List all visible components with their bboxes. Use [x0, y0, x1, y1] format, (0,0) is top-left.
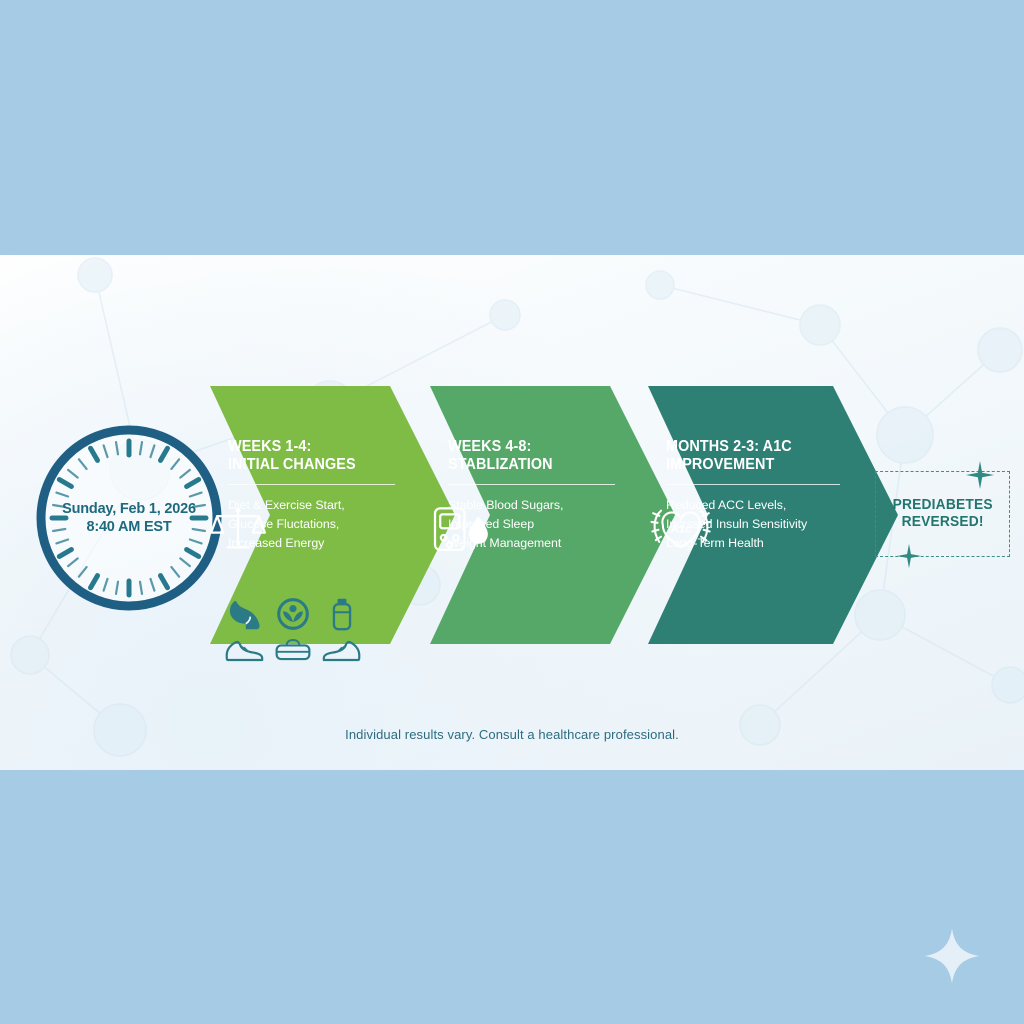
result-callout[interactable]: PREDIABETES REVERSED!: [875, 471, 1010, 557]
stage-description: Diet & Exercise Start, Glucose Fluctatio…: [228, 496, 395, 553]
stage-title: WEEKS 4-8: STABLIZATION: [448, 438, 603, 475]
sparkle-star-icon: [896, 543, 922, 569]
water-bottle-icon: [327, 597, 357, 631]
stage-title: WEEKS 1-4: INITIAL CHANGES: [228, 438, 383, 475]
sneaker-left-icon: [224, 637, 264, 663]
sneaker-right-icon: [322, 637, 362, 663]
gym-bag-icon: [273, 637, 313, 663]
stage-weeks-4-8[interactable]: WEEKS 4-8: STABLIZATION Stable Blood Sug…: [430, 386, 675, 644]
stage-description: Reduced ACC Levels, Incrssed Insuln Sens…: [666, 496, 840, 553]
healthy-plate-icon: [275, 597, 311, 631]
stage-divider: [666, 484, 840, 486]
stage-divider: [228, 484, 395, 486]
stage-description: Stable Blood Sugars, Improved Sleep Weig…: [448, 496, 615, 553]
corner-sparkle-icon: [922, 926, 982, 986]
infographic-panel: Sunday, Feb 1, 2026 8:40 AM EST WEEKS 1-…: [0, 255, 1024, 770]
stage-title: MONTHS 2-3: A1C IMPROVEMENT: [666, 438, 828, 475]
result-label: PREDIABETES REVERSED!: [892, 497, 992, 532]
timeline-stages: WEEKS 1-4: INITIAL CHANGES Diet & Exerci…: [0, 255, 1024, 770]
stage-months-2-3[interactable]: MONTHS 2-3: A1C IMPROVEMENT Reduced ACC …: [648, 386, 898, 644]
flexed-bicep-icon: [226, 597, 262, 631]
sparkle-star-icon: [965, 460, 995, 490]
disclaimer-text: Individual results vary. Consult a healt…: [0, 727, 1024, 742]
stage-divider: [448, 484, 615, 486]
lifestyle-icon-grid: [222, 597, 364, 663]
